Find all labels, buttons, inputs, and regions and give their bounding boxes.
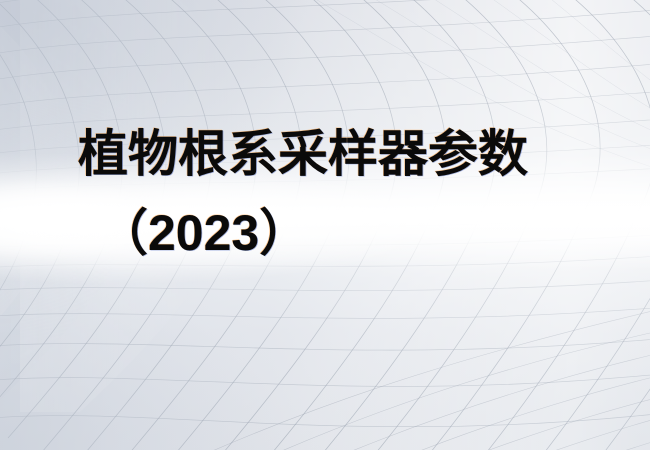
page-title: 植物根系采样器参数 xyxy=(78,124,528,184)
slide-canvas: 植物根系采样器参数 （2023） xyxy=(0,0,650,450)
slide-title-block: 植物根系采样器参数 （2023） xyxy=(0,0,650,450)
page-title-year: （2023） xyxy=(98,203,309,263)
